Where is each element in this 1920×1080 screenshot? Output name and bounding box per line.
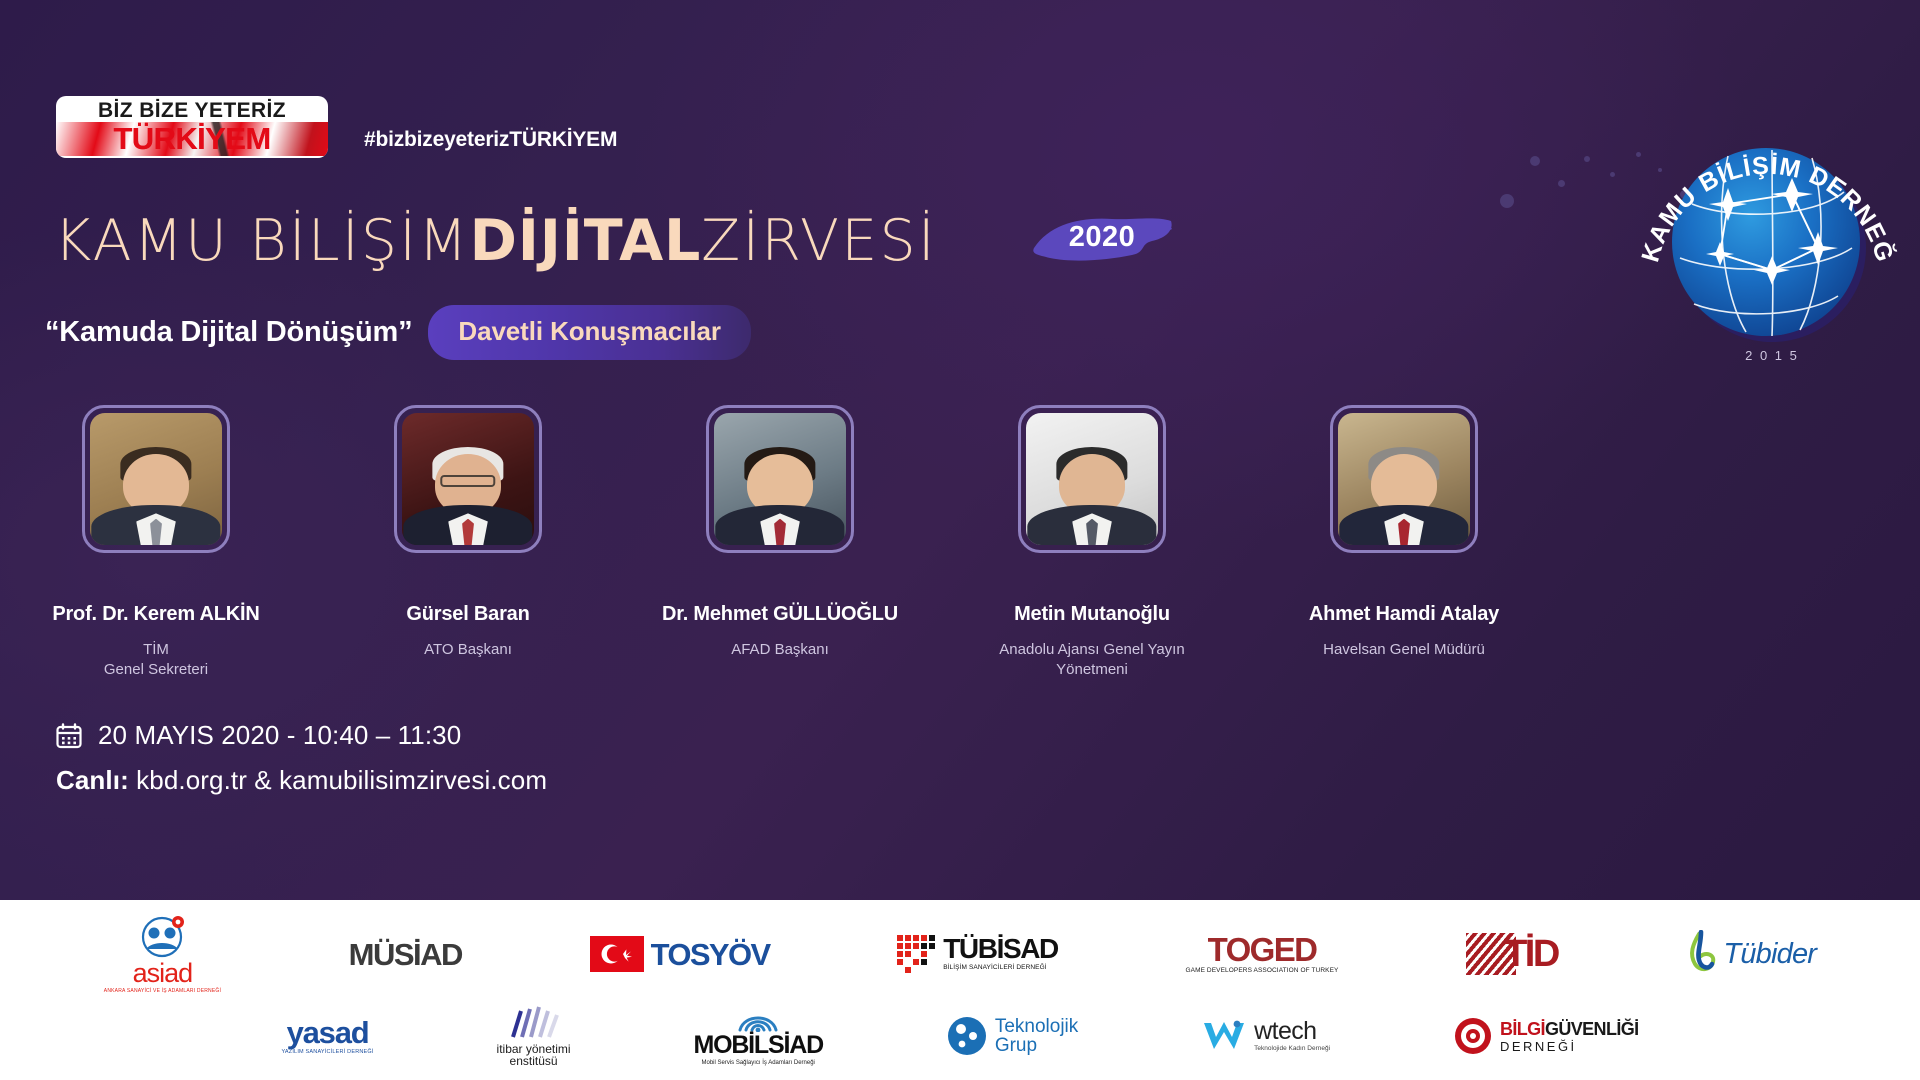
year-badge-label: 2020 [1028, 208, 1176, 268]
asiad-subtitle: ANKARA SANAYİCİ VE İŞ ADAMLARI DERNEĞİ [104, 989, 221, 994]
avatar [1330, 405, 1478, 553]
turkish-flag-icon [590, 936, 644, 972]
speaker-role: AFAD Başkanı [731, 640, 829, 660]
live-stream-row: Canlı: kbd.org.tr & kamubilisimzirvesi.c… [56, 765, 547, 796]
musiad-wordmark: MÜSİAD [349, 939, 462, 970]
bgd-wordmark: BİLGİGÜVENLİĞİ [1500, 1020, 1639, 1038]
tid-wordmark: TİD [1504, 935, 1558, 973]
teknolojik-word2: Grup [995, 1036, 1078, 1055]
wtech-wordmark: wtech [1254, 1019, 1330, 1044]
speaker-photo [1338, 413, 1470, 545]
yasad-subtitle: YAZILIM SANAYİCİLERİ DERNEĞİ [281, 1050, 373, 1056]
mobilsiad-subtitle: Mobil Servis Sağlayıcı İş Adamları Derne… [702, 1060, 815, 1066]
speaker-role: Anadolu Ajansı Genel Yayın Yönetmeni [999, 640, 1184, 681]
title-part1: KAMU BİLİŞİM [54, 208, 470, 274]
live-label: Canlı: [56, 765, 129, 795]
speaker-name: Metin Mutanoğlu [1014, 603, 1170, 626]
mobilsiad-wordmark: MOBİLSİAD [693, 1033, 822, 1058]
itibar-word2: enstitüsü [510, 1055, 558, 1067]
sponsor-mobilsiad: MOBİLSİAD Mobil Servis Sağlayıcı İş Adam… [693, 996, 822, 1076]
speaker-name: Dr. Mehmet GÜLLÜOĞLU [662, 603, 898, 626]
campaign-logo-line2: TÜRKİYEM [113, 121, 270, 157]
speaker-name: Ahmet Hamdi Atalay [1309, 603, 1499, 626]
itibar-icon [507, 1005, 561, 1039]
bgd-word2: DERNEĞİ [1500, 1040, 1639, 1053]
bgd-word-b: GÜVENLİĞİ [1545, 1019, 1639, 1039]
speaker-card: Metin Mutanoğlu Anadolu Ajansı Genel Yay… [936, 405, 1248, 681]
campaign-logo-line2-wrap: TÜRKİYEM [56, 122, 328, 156]
sponsor-tosyov: TOSYÖV [590, 910, 770, 998]
avatar [1018, 405, 1166, 553]
tubisad-icon [897, 935, 937, 973]
speaker-name: Prof. Dr. Kerem ALKİN [52, 603, 259, 626]
svg-text:2 0 1 5: 2 0 1 5 [1745, 348, 1799, 363]
tubider-wordmark: Tübider [1723, 940, 1816, 969]
speakers-list: Prof. Dr. Kerem ALKİN TİM Genel Sekreter… [0, 405, 1560, 681]
event-date-text: 20 MAYIS 2020 - 10:40 – 11:30 [98, 720, 461, 751]
sponsor-asiad: asiad ANKARA SANAYİCİ VE İŞ ADAMLARI DER… [104, 910, 221, 998]
tubisad-wordmark: TÜBİSAD [943, 935, 1058, 963]
subtitle-theme: “Kamuda Dijital Dönüşüm” [45, 316, 412, 349]
yasad-wordmark: yasad [287, 1017, 369, 1048]
toged-subtitle: GAME DEVELOPERS ASSOCIATION OF TURKEY [1185, 968, 1338, 975]
tosyov-wordmark: TOSYÖV [651, 939, 770, 970]
live-urls[interactable]: kbd.org.tr & kamubilisimzirvesi.com [136, 765, 547, 795]
avatar [82, 405, 230, 553]
bilgi-guvenligi-icon [1453, 1016, 1493, 1056]
speaker-photo [90, 413, 222, 545]
sponsors-footer: asiad ANKARA SANAYİCİ VE İŞ ADAMLARI DER… [0, 900, 1920, 1080]
mobilsiad-signal-icon [736, 1006, 780, 1032]
tubider-icon [1685, 930, 1719, 979]
subtitle-pill: Davetli Konuşmacılar [428, 305, 750, 360]
year-badge: 2020 [1028, 208, 1176, 268]
speaker-role: Havelsan Genel Müdürü [1323, 640, 1485, 660]
sponsor-yasad: yasad YAZILIM SANAYİCİLERİ DERNEĞİ [281, 996, 373, 1076]
toged-wordmark: TOGED [1208, 933, 1317, 966]
sponsor-row-2: yasad YAZILIM SANAYİCİLERİ DERNEĞİ [0, 996, 1920, 1076]
speaker-name: Gürsel Baran [406, 603, 529, 626]
teknolojik-grup-icon [946, 1015, 988, 1057]
speaker-role: TİM Genel Sekreteri [104, 640, 208, 681]
hashtag-text: #bizbizeyeterizTÜRKİYEM [364, 128, 617, 152]
page-title: KAMU BİLİŞİM DİJİTAL ZİRVESİ [54, 208, 937, 274]
speaker-photo [402, 413, 534, 545]
speaker-photo [1026, 413, 1158, 545]
sponsor-bilgi-guvenligi-dernegi: BİLGİGÜVENLİĞİ DERNEĞİ [1453, 996, 1639, 1076]
speaker-role: ATO Başkanı [424, 640, 512, 660]
wtech-subtitle: Teknolojide Kadın Derneği [1254, 1046, 1330, 1053]
sponsor-itibar-yonetimi-enstitusu: itibar yönetimi enstitüsü [497, 996, 571, 1076]
subtitle-row: “Kamuda Dijital Dönüşüm” Davetli Konuşma… [45, 305, 751, 360]
speaker-photo [714, 413, 846, 545]
sponsor-tid: TİD [1466, 910, 1558, 998]
speaker-card: Ahmet Hamdi Atalay Havelsan Genel Müdürü [1248, 405, 1560, 681]
teknolojik-word1: Teknolojik [995, 1017, 1078, 1036]
event-date-row: 20 MAYIS 2020 - 10:40 – 11:30 [56, 720, 461, 751]
campaign-logo-line1: BİZ BİZE YETERİZ [98, 100, 286, 121]
sponsor-tubisad: TÜBİSAD BİLİŞİM SANAYİCİLERİ DERNEĞİ [897, 910, 1058, 998]
calendar-icon [56, 723, 82, 749]
campaign-logo: BİZ BİZE YETERİZ TÜRKİYEM [56, 96, 328, 158]
sponsor-tubider: Tübider [1685, 910, 1816, 998]
sponsor-musiad: MÜSİAD [349, 910, 462, 998]
speaker-card: Prof. Dr. Kerem ALKİN TİM Genel Sekreter… [0, 405, 312, 681]
asiad-wordmark: asiad [133, 960, 193, 987]
wtech-icon [1201, 1019, 1247, 1053]
title-part3: ZİRVESİ [701, 208, 937, 274]
title-part2: DİJİTAL [470, 208, 701, 274]
bgd-word-a: BİLGİ [1500, 1019, 1545, 1039]
tubisad-subtitle: BİLİŞİM SANAYİCİLERİ DERNEĞİ [943, 965, 1058, 972]
association-logo: KAMU BİLİŞİM DERNEĞİ 2 0 1 5 [1632, 108, 1900, 376]
speaker-card: Dr. Mehmet GÜLLÜOĞLU AFAD Başkanı [624, 405, 936, 681]
avatar [706, 405, 854, 553]
sponsor-wtech: wtech Teknolojide Kadın Derneği [1201, 996, 1330, 1076]
sponsor-teknolojik-grup: Teknolojik Grup [946, 996, 1078, 1076]
speaker-card: Gürsel Baran ATO Başkanı [312, 405, 624, 681]
sponsor-row-1: asiad ANKARA SANAYİCİ VE İŞ ADAMLARI DER… [0, 910, 1920, 998]
event-poster: BİZ BİZE YETERİZ TÜRKİYEM #bizbizeyeteri… [0, 0, 1920, 1080]
sponsor-toged: TOGED GAME DEVELOPERS ASSOCIATION OF TUR… [1185, 910, 1338, 998]
asiad-icon [134, 915, 190, 959]
avatar [394, 405, 542, 553]
